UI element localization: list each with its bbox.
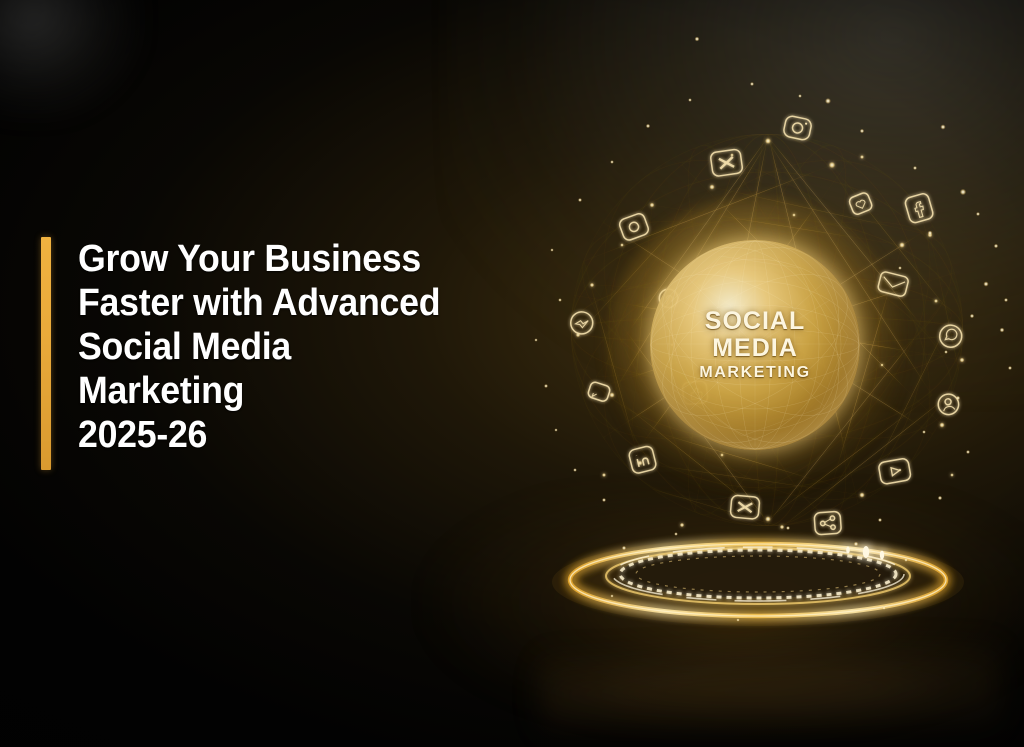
background-floor-reflection xyxy=(540,640,1000,747)
background-haze-top-left xyxy=(0,0,144,122)
sphere-core xyxy=(650,240,860,450)
facebook-icon xyxy=(904,192,934,224)
user-icon xyxy=(937,393,960,416)
platform-rings xyxy=(548,524,968,636)
youtube-icon xyxy=(878,458,911,485)
accent-bar xyxy=(41,237,51,470)
x-icon xyxy=(730,495,760,519)
sphere-texture xyxy=(650,240,860,450)
x-icon xyxy=(710,149,743,177)
headline-block: Grow Your Business Faster with Advanced … xyxy=(41,237,463,470)
banner-canvas: SOCIAL MEDIA MARKETING xyxy=(0,0,1024,747)
linkedin-icon xyxy=(628,445,657,474)
page-title: Grow Your Business Faster with Advanced … xyxy=(78,237,440,470)
